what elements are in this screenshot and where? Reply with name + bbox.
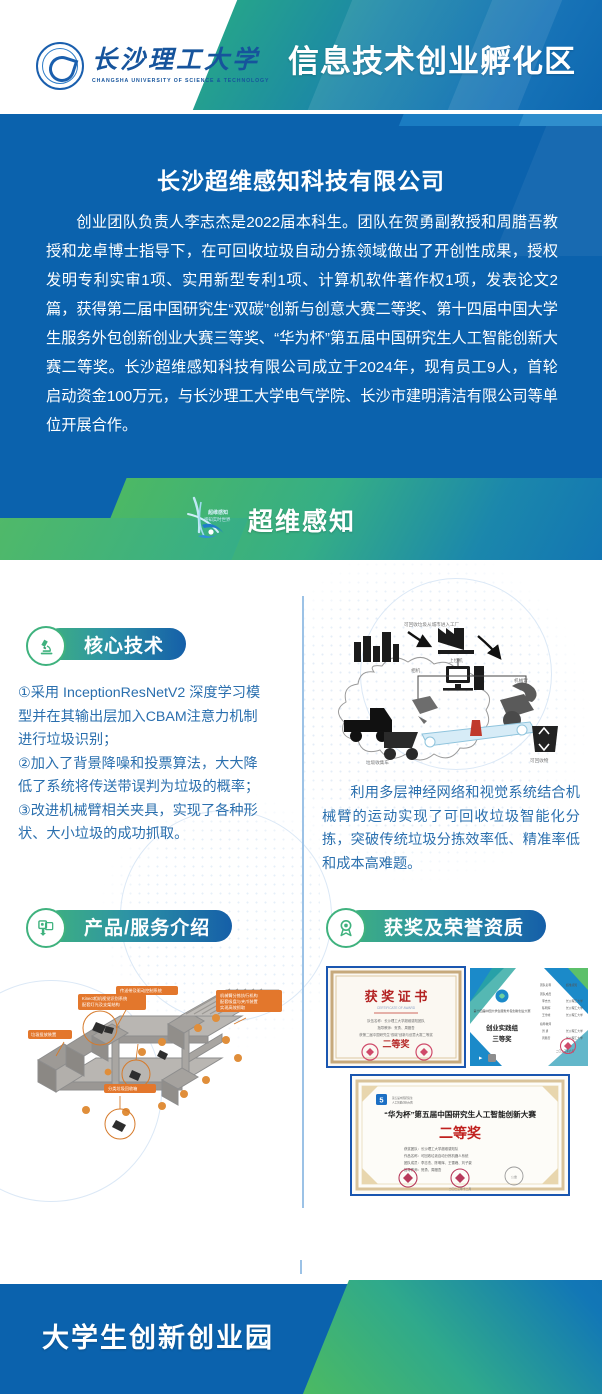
svg-text:可回收物: 可回收物 <box>530 757 549 764</box>
core-tech-line: ③改进机械臂相关夹具，实现了各种形 <box>18 800 294 824</box>
section-header-core-tech: 核心技术 <box>26 626 186 662</box>
svg-text:周腊吾: 周腊吾 <box>542 1036 551 1040</box>
svg-text:创业实践组: 创业实践组 <box>485 1023 519 1032</box>
right-summary-text: 利用多层神经网络和视觉系统结合机械臂的运动实现了可回收垃圾智能化分拣，突破传统垃… <box>322 782 580 876</box>
company-description: 创业团队负责人李志杰是2022届本科生。团队在贺勇副教授和周腊吾教授和龙卓博士指… <box>46 208 558 440</box>
svg-text:人工智能创新大赛: 人工智能创新大赛 <box>392 1101 413 1105</box>
svg-text:分类垃圾回收箱: 分类垃圾回收箱 <box>108 1085 137 1092</box>
university-seal-icon <box>36 42 84 90</box>
svg-text:5: 5 <box>379 1096 383 1105</box>
section-label-core-tech: 核心技术 <box>84 631 164 658</box>
section-header-product-bar: 产品/服务介绍 <box>44 910 232 942</box>
page-footer: 大学生创新创业园 <box>0 1260 602 1394</box>
certificate-image-3: 5 第五届中国研究生 人工智能创新大赛 “华为杯”第五届中国研究生人工智能创新大… <box>350 1074 570 1196</box>
certificate-image-1: 获 奖 证 书 CERTIFICATE OF AWARD 队伍名称：长沙理工大学… <box>326 966 466 1068</box>
footer-notch <box>322 1260 602 1280</box>
svg-text:团队成员: 团队成员 <box>540 992 551 996</box>
page-title: 信息技术创业孵化区 <box>288 36 588 81</box>
university-name-en: CHANGSHA UNIVERSITY OF SCIENCE & TECHNOL… <box>92 78 269 84</box>
svg-text:指导教师: 指导教师 <box>540 1022 551 1026</box>
svg-text:可回收垃圾从城市进入工厂: 可回收垃圾从城市进入工厂 <box>404 621 460 628</box>
footer-title: 大学生创新创业园 <box>42 1316 274 1355</box>
svg-text:配套灯光及支架结构: 配套灯光及支架结构 <box>82 1001 120 1008</box>
svg-text:实现高效抓取: 实现高效抓取 <box>220 1004 246 1011</box>
svg-text:团队成员：李志杰、陈明辉、王雪峰、刘子豪: 团队成员：李志杰、陈明辉、王雪峰、刘子豪 <box>404 1160 472 1165</box>
poster-root: 长沙理工大学 CHANGSHA UNIVERSITY OF SCIENCE & … <box>0 0 602 1394</box>
svg-text:队伍名称：长沙理工大学超维感知团队: 队伍名称：长沙理工大学超维感知团队 <box>367 1018 425 1023</box>
section-header-product: 产品/服务介绍 <box>26 908 232 944</box>
column-divider <box>302 596 304 1208</box>
footer-gradient <box>303 1260 602 1394</box>
svg-text:二等奖: 二等奖 <box>439 1125 482 1141</box>
svg-text:长沙理工大学: 长沙理工大学 <box>566 999 583 1003</box>
svg-text:感知实时世界: 感知实时世界 <box>204 516 231 523</box>
university-logo: 长沙理工大学 CHANGSHA UNIVERSITY OF SCIENCE & … <box>36 42 269 90</box>
svg-text:获第二届中国研究生“双碳”创新与创意大赛二等奖: 获第二届中国研究生“双碳”创新与创意大赛二等奖 <box>359 1032 433 1037</box>
svg-text:长沙理工大学: 长沙理工大学 <box>566 1013 583 1017</box>
svg-text:长沙理工大学: 长沙理工大学 <box>566 1006 583 1010</box>
svg-text:“华为杯”第五届中国研究生人工智能创新大赛: “华为杯”第五届中国研究生人工智能创新大赛 <box>384 1109 536 1119</box>
svg-text:垃圾收集车: 垃圾收集车 <box>366 759 389 766</box>
svg-text:上位机: 上位机 <box>449 657 463 664</box>
svg-text:获 奖 证 书: 获 奖 证 书 <box>365 989 428 1004</box>
product-puzzle-icon <box>26 908 66 948</box>
svg-text:三等奖: 三等奖 <box>492 1034 512 1043</box>
university-logo-text: 长沙理工大学 CHANGSHA UNIVERSITY OF SCIENCE & … <box>92 48 269 83</box>
svg-text:第五届中国研究生: 第五届中国研究生 <box>392 1096 413 1100</box>
core-tech-line: 低了系统将传送带误判为垃圾的概率； <box>18 776 294 800</box>
technical-diagram-image: 可回收垃圾从城市进入工厂 上位机 相机 机械臂 垃圾收集车 可回收物 <box>326 608 580 768</box>
microscope-icon <box>26 626 66 666</box>
svg-text:公章: 公章 <box>511 1174 517 1179</box>
svg-text:机械臂分拣执行机构: 机械臂分拣执行机构 <box>220 992 258 999</box>
intro-panel: 长沙超维感知科技有限公司 创业团队负责人李志杰是2022届本科生。团队在贺勇副教… <box>0 126 602 526</box>
section-label-product: 产品/服务介绍 <box>84 913 210 940</box>
university-name-cn: 长沙理工大学 <box>92 48 269 74</box>
section-label-awards: 获奖及荣誉资质 <box>384 913 524 940</box>
svg-text:超维感知: 超维感知 <box>207 509 228 516</box>
svg-text:超维感知: 超维感知 <box>566 983 577 987</box>
core-tech-line: 进行垃圾识别； <box>18 729 294 753</box>
svg-text:作品名称：可回收垃圾自动分拣机器人系统: 作品名称：可回收垃圾自动分拣机器人系统 <box>404 1153 469 1158</box>
company-name: 长沙超维感知科技有限公司 <box>0 162 602 196</box>
svg-text:二等奖: 二等奖 <box>382 1038 410 1049</box>
svg-text:二〇二三年十二月: 二〇二三年十二月 <box>449 1187 472 1191</box>
svg-text:机械臂: 机械臂 <box>514 677 528 684</box>
svg-text:第十四届中国大学生服务外包创新创业大赛: 第十四届中国大学生服务外包创新创业大赛 <box>473 1008 530 1013</box>
section-header-awards: 获奖及荣誉资质 <box>326 908 546 944</box>
svg-text:李志杰: 李志杰 <box>542 999 551 1003</box>
chaowei-sensing-logo-icon: 超维感知 感知实时世界 <box>178 492 234 548</box>
core-tech-line: ②加入了背景降噪和投票算法，大大降 <box>18 753 294 777</box>
certificate-image-2: 第十四届中国大学生服务外包创新创业大赛 创业实践组 三等奖 团队名称超维感知 团… <box>468 966 590 1068</box>
svg-text:相机: 相机 <box>411 667 421 674</box>
core-tech-line: ①采用 InceptionResNetV2 深度学习模 <box>18 682 294 706</box>
core-tech-body: ①采用 InceptionResNetV2 深度学习模 型并在其输出层加入CBA… <box>18 682 294 847</box>
svg-text:配套吸盘与夹爪装置: 配套吸盘与夹爪装置 <box>220 998 258 1005</box>
content-area: 核心技术 ①采用 InceptionResNetV2 深度学习模 型并在其输出层… <box>0 560 602 1260</box>
svg-text:指导教师：贺勇、周腊吾: 指导教师：贺勇、周腊吾 <box>377 1025 415 1030</box>
core-tech-line: 状、大小垃圾的成功抓取。 <box>18 823 294 847</box>
page-header: 长沙理工大学 CHANGSHA UNIVERSITY OF SCIENCE & … <box>0 0 602 110</box>
footer-divider-tick <box>300 1260 302 1274</box>
brand-banner-title: 超维感知 <box>248 502 356 538</box>
product-line-image: Kinect相机视觉识别系统 配套灯光及支架结构 传送带及驱动控制系统 机械臂分… <box>20 964 292 1144</box>
brand-banner: 超维感知 感知实时世界 超维感知 <box>0 478 602 560</box>
svg-text:Kinect相机视觉识别系统: Kinect相机视觉识别系统 <box>82 995 127 1002</box>
svg-text:CERTIFICATE OF AWARD: CERTIFICATE OF AWARD <box>377 1006 416 1010</box>
svg-text:垃圾投放装置: 垃圾投放装置 <box>31 1031 56 1038</box>
svg-text:贺 勇: 贺 勇 <box>542 1029 549 1033</box>
svg-text:长沙理工大学: 长沙理工大学 <box>566 1029 583 1033</box>
core-tech-line: 型并在其输出层加入CBAM注意力机制 <box>18 706 294 730</box>
svg-text:王雪峰: 王雪峰 <box>542 1013 551 1017</box>
svg-text:获奖团队：长沙理工大学超维感知队: 获奖团队：长沙理工大学超维感知队 <box>404 1146 459 1151</box>
svg-text:陈明辉: 陈明辉 <box>542 1006 551 1010</box>
award-ribbon-icon <box>326 908 366 948</box>
svg-text:团队名称: 团队名称 <box>540 983 551 987</box>
section-header-awards-bar: 获奖及荣誉资质 <box>344 910 546 942</box>
svg-text:传送带及驱动控制系统: 传送带及驱动控制系统 <box>120 987 162 994</box>
